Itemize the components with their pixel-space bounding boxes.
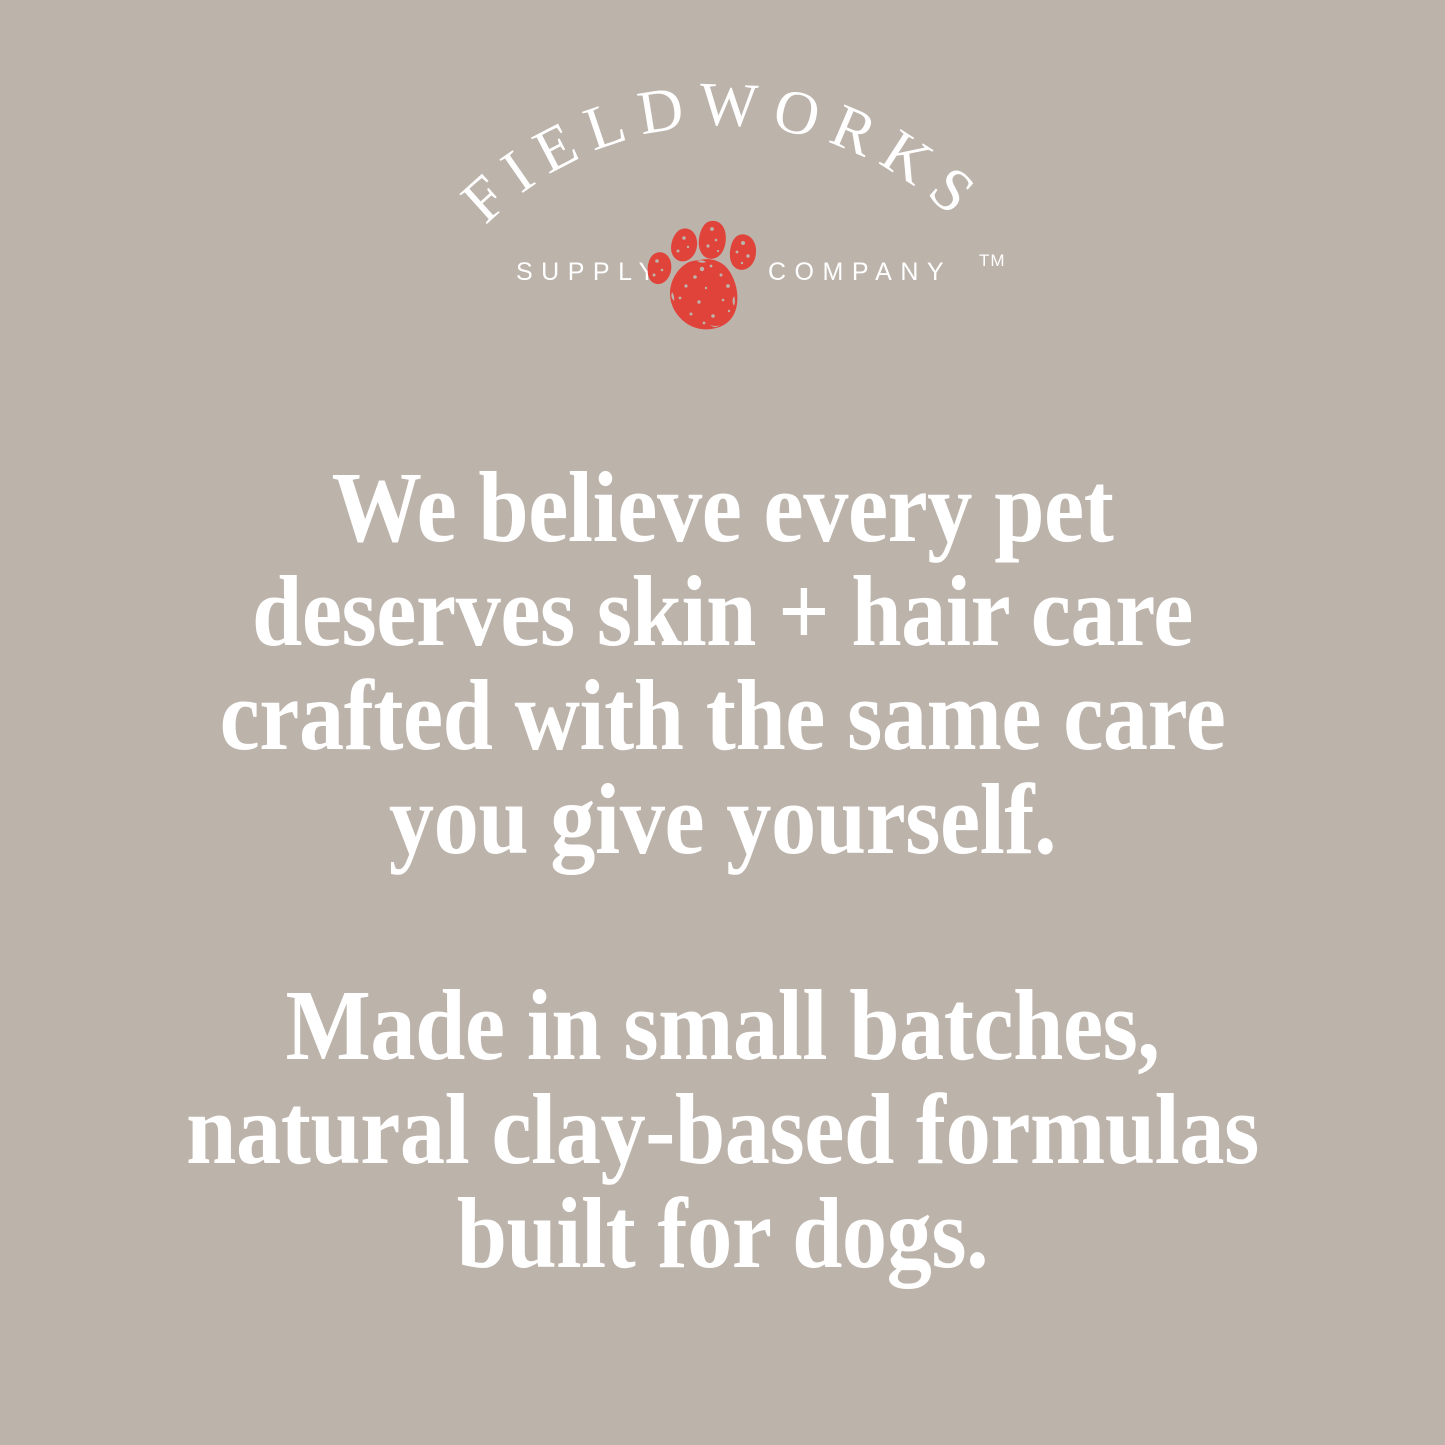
- mission-statement: We believe every pet deserves skin + hai…: [76, 455, 1369, 871]
- brand-name-arc: FIELDWORKS: [449, 70, 997, 236]
- tagline-company: COMPANY: [768, 258, 952, 286]
- tagline-supply: SUPPLY: [516, 258, 664, 286]
- brand-logo: FIELDWORKS TM SUPPLY COMPANY: [423, 148, 1023, 333]
- trademark-symbol: TM: [979, 251, 1006, 270]
- brand-poster: FIELDWORKS TM SUPPLY COMPANY: [0, 0, 1445, 1445]
- product-statement: Made in small batches, natural clay-base…: [76, 973, 1369, 1285]
- headline-copy: We believe every pet deserves skin + hai…: [0, 455, 1445, 1285]
- paragraph-spacer: [0, 871, 1445, 973]
- paw-print-icon: [647, 221, 755, 329]
- logo-svg: FIELDWORKS TM SUPPLY COMPANY: [423, 148, 1023, 333]
- brand-name-textpath: FIELDWORKS: [449, 70, 997, 236]
